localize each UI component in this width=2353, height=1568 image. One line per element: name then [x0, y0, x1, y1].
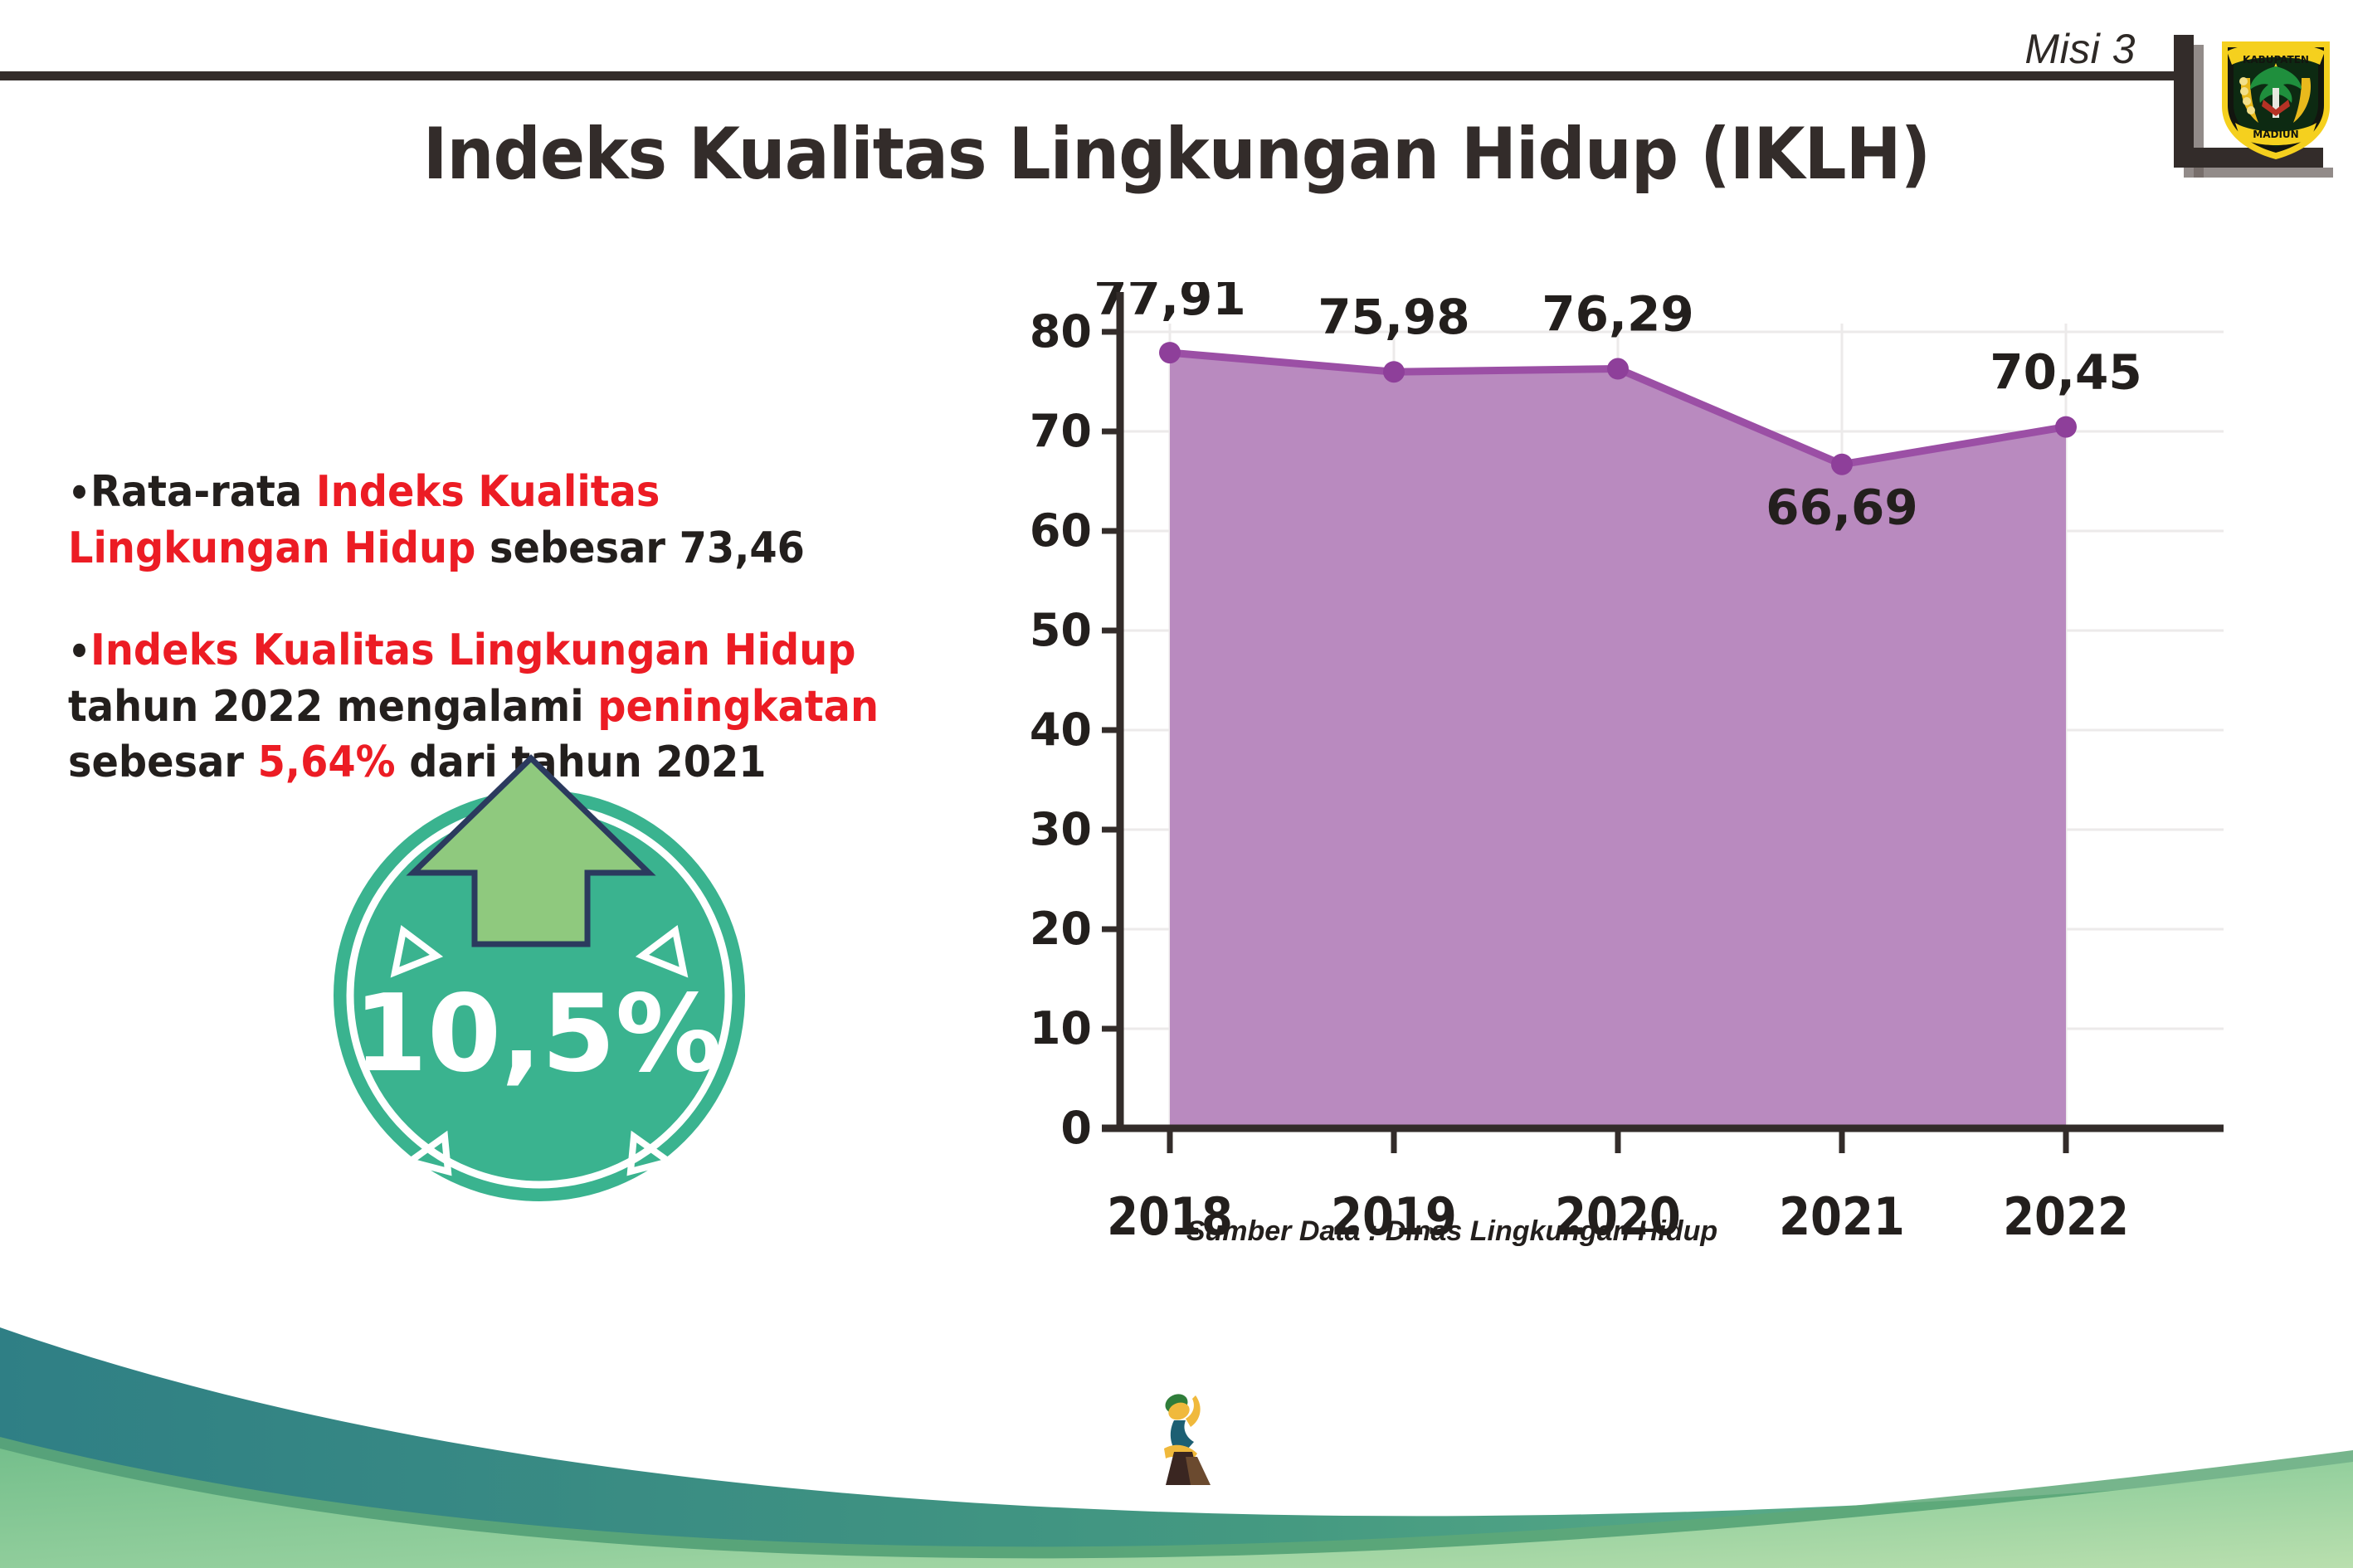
svg-text:0: 0 [1060, 1102, 1092, 1154]
chart-area-fill [1170, 353, 2066, 1128]
bullet-2-seg-2: tahun 2022 mengalami [68, 682, 597, 732]
svg-text:20: 20 [1030, 903, 1092, 955]
bullet-marker: • [68, 629, 90, 674]
svg-text:80: 80 [1030, 305, 1092, 358]
svg-text:30: 30 [1030, 803, 1092, 855]
slide-canvas: Misi 3 KABUPATEN MA [0, 0, 2353, 1568]
bullet-2-seg-4: sebesar [68, 738, 258, 787]
chart-source-note: Sumber Data : Dinas Lingkungan Hidup [1079, 1215, 1825, 1248]
misi-label: Misi 3 [2024, 25, 2136, 73]
footer-caption: Media Infografis Data Statistik Sektoral… [1224, 1420, 2193, 1465]
iklh-area-chart: 01020304050607080 20182019202020212022 7… [979, 282, 2240, 1278]
bullet-1-seg-3: sebesar 73,46 [475, 523, 805, 573]
footer-wave: Media Infografis Data Statistik Sektoral… [0, 1294, 2353, 1568]
bullet-marker: • [68, 470, 90, 515]
growth-badge: 10,5% [324, 747, 772, 1211]
chart-y-axis-labels: 01020304050607080 [1030, 305, 1092, 1154]
bullet-2-seg-3: peningkatan [597, 682, 879, 732]
svg-text:66,69: 66,69 [1766, 480, 1917, 536]
svg-text:50: 50 [1030, 604, 1092, 656]
svg-text:10: 10 [1030, 1002, 1092, 1054]
svg-text:70: 70 [1030, 405, 1092, 457]
badge-value: 10,5% [353, 972, 722, 1096]
header-rule [0, 71, 2180, 80]
svg-text:60: 60 [1030, 504, 1092, 557]
svg-text:76,29: 76,29 [1542, 286, 1693, 343]
bullet-2-seg-1: Indeks Kualitas Lingkungan Hidup [90, 626, 855, 675]
svg-text:75,98: 75,98 [1318, 289, 1469, 345]
list-item: •Rata-rata Indeks Kualitas Lingkungan Hi… [68, 465, 908, 577]
svg-text:40: 40 [1030, 704, 1092, 756]
page-title: Indeks Kualitas Lingkungan Hidup (IKLH) [82, 113, 2270, 196]
svg-text:70,45: 70,45 [1990, 344, 2141, 401]
media-infografis-logo-icon [1149, 1387, 1229, 1488]
svg-text:2022: 2022 [2003, 1187, 2129, 1247]
bullet-1-seg-1: Rata-rata [90, 467, 316, 517]
